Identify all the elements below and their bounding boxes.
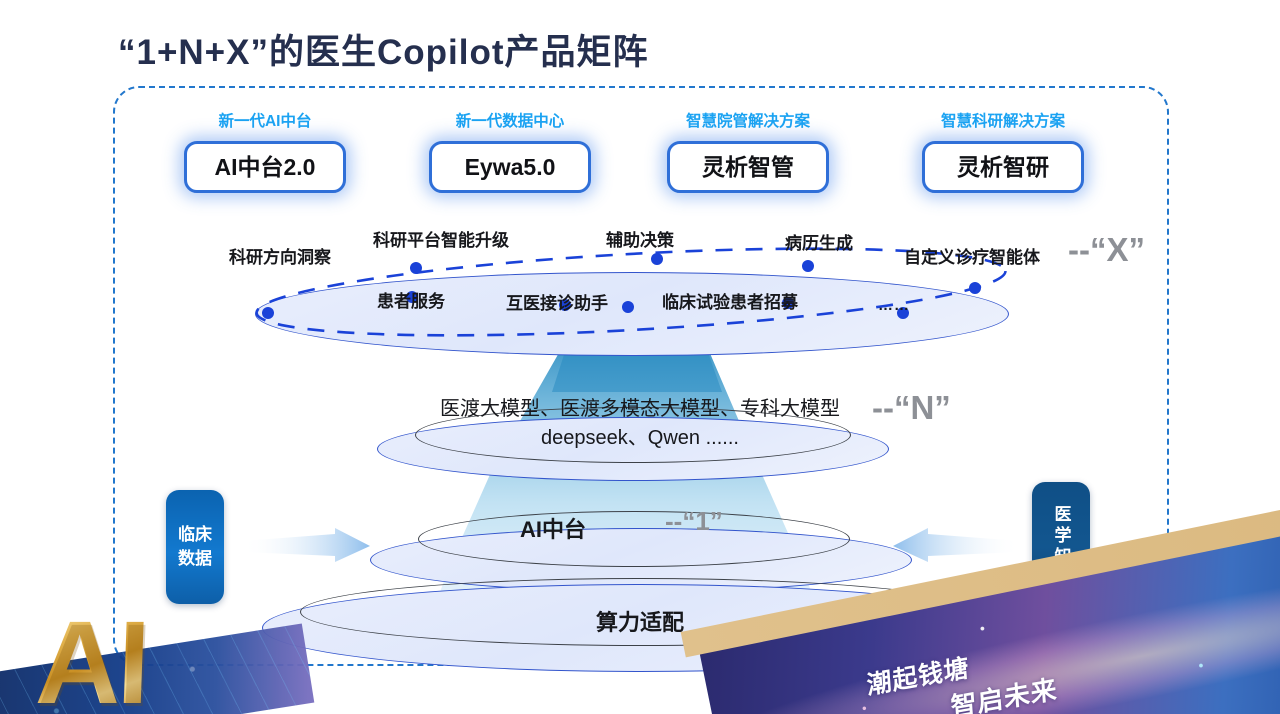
product-caption-3: 智慧科研解决方案	[893, 113, 1113, 131]
tier-x-item-8: ……	[878, 297, 910, 314]
decoration-ai-logo: AI	[34, 604, 148, 714]
slide-canvas: “1+N+X”的医生Copilot产品矩阵 新一代AI中台 AI中台2.0 新一…	[0, 0, 1280, 714]
tier-n-tag: --“N”	[872, 389, 951, 427]
product-card-2[interactable]: 智慧院管解决方案 灵析智管	[638, 113, 858, 193]
product-card-row: 新一代AI中台 AI中台2.0 新一代数据中心 Eywa5.0 智慧院管解决方案…	[0, 113, 1280, 203]
product-name-1[interactable]: Eywa5.0	[429, 141, 591, 193]
tier-n-line2: deepseek、Qwen ......	[0, 421, 1280, 450]
tier-x-disc	[255, 272, 1009, 356]
side-badge-clinical-line2: 数据	[178, 547, 212, 571]
page-title: “1+N+X”的医生Copilot产品矩阵	[118, 24, 648, 75]
tier-n-line1: 医渡大模型、医渡多模态大模型、专科大模型	[0, 392, 1280, 421]
tier-x-item-0: 科研方向洞察	[229, 243, 331, 268]
product-card-1[interactable]: 新一代数据中心 Eywa5.0	[400, 113, 620, 193]
tier-x-tag: --“X”	[1068, 231, 1145, 269]
tier-x-item-4: 自定义诊疗智能体	[904, 243, 1040, 268]
tier-x-item-7: 临床试验患者招募	[662, 288, 798, 313]
tier-one-disc-inner	[418, 511, 850, 567]
tier-one-label: AI中台	[520, 512, 586, 544]
product-card-0[interactable]: 新一代AI中台 AI中台2.0	[155, 113, 375, 193]
tier-x-item-2: 辅助决策	[606, 226, 674, 251]
product-caption-0: 新一代AI中台	[155, 113, 375, 131]
product-caption-2: 智慧院管解决方案	[638, 113, 858, 131]
product-name-3[interactable]: 灵析智研	[922, 141, 1084, 193]
product-name-0[interactable]: AI中台2.0	[184, 141, 346, 193]
tier-x-item-5: 患者服务	[377, 287, 445, 312]
tier-x-item-6: 互医接诊助手	[506, 289, 608, 314]
tier-one-tag: --“1”	[665, 506, 723, 537]
product-card-3[interactable]: 智慧科研解决方案 灵析智研	[893, 113, 1113, 193]
side-badge-clinical-data[interactable]: 临床 数据	[166, 490, 224, 604]
side-badge-clinical-line1: 临床	[178, 523, 212, 547]
product-name-2[interactable]: 灵析智管	[667, 141, 829, 193]
tier-x-item-3: 病历生成	[785, 229, 853, 254]
tier-x-item-1: 科研平台智能升级	[373, 226, 509, 251]
product-caption-1: 新一代数据中心	[400, 113, 620, 131]
